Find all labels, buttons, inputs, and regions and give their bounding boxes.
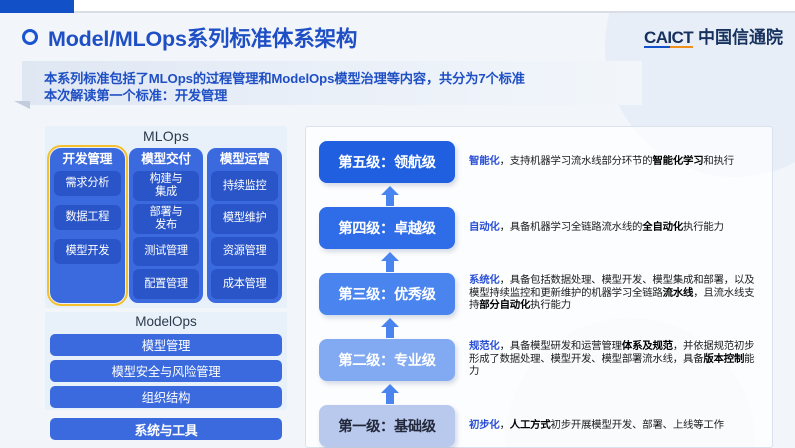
mlops-column-items: 构建与集成部署与发布测试管理配置管理 <box>133 171 200 299</box>
mlops-columns: 开发管理需求分析数据工程模型开发模型交付构建与集成部署与发布测试管理配置管理模型… <box>50 148 282 303</box>
mlops-group: MLOps 开发管理需求分析数据工程模型开发模型交付构建与集成部署与发布测试管理… <box>45 126 287 308</box>
maturity-level-keyword: 智能化 <box>469 156 500 167</box>
mlops-item[interactable]: 需求分析 <box>54 171 121 196</box>
maturity-level-description: 系统化，具备包括数据处理、模型开发、模型集成和部署，以及模型持续监控和更新维护的… <box>469 275 764 313</box>
mlops-item[interactable]: 模型维护 <box>211 204 278 234</box>
mlops-item[interactable]: 构建与集成 <box>133 171 200 201</box>
mlops-item[interactable]: 配置管理 <box>133 269 200 299</box>
maturity-level-box[interactable]: 第二级：专业级 <box>319 339 455 381</box>
mlops-architecture-panel: MLOps 开发管理需求分析数据工程模型开发模型交付构建与集成部署与发布测试管理… <box>45 126 287 448</box>
maturity-level-row-1: 第一级：基础级初步化，人工方式初步开展模型开发、部署、上线等工作 <box>306 405 774 447</box>
mlops-caption: MLOps <box>45 128 287 144</box>
logo-mark-text: CAICT <box>644 28 693 47</box>
mlops-item[interactable]: 持续监控 <box>211 171 278 201</box>
maturity-level-row-2: 第二级：专业级规范化，具备模型研发和运营管理体系及规范，并依据规范初步形成了数据… <box>306 339 774 381</box>
mlops-column-header: 模型运营 <box>211 151 278 168</box>
modelops-bar[interactable]: 模型安全与风险管理 <box>50 360 282 382</box>
mlops-item[interactable]: 部署与发布 <box>133 204 200 234</box>
maturity-level-description: 智能化，支持机器学习流水线部分环节的智能化学习和执行 <box>469 156 764 169</box>
mlops-column-items: 持续监控模型维护资源管理成本管理 <box>211 171 278 299</box>
modelops-group: ModelOps 模型管理模型安全与风险管理组织结构 <box>45 312 287 410</box>
mlops-item[interactable]: 资源管理 <box>211 237 278 267</box>
maturity-level-list: 第五级：领航级智能化，支持机器学习流水线部分环节的智能化学习和执行第四级：卓越级… <box>306 127 774 448</box>
mlops-item[interactable]: 成本管理 <box>211 269 278 299</box>
logo-underline-orange <box>670 46 693 49</box>
logo-mark-label: CAICT <box>644 28 693 47</box>
arrow-up-icon <box>379 317 401 339</box>
arrow-up-icon <box>379 251 401 273</box>
mlops-item[interactable]: 数据工程 <box>54 205 121 230</box>
mlops-column-1[interactable]: 开发管理需求分析数据工程模型开发 <box>50 148 125 303</box>
arrow-up-icon <box>379 383 401 405</box>
subtitle-line-2: 本次解读第一个标准：开发管理 <box>44 85 227 104</box>
maturity-level-description: 规范化，具备模型研发和运营管理体系及规范，并依据规范初步形成了数据处理、模型开发… <box>469 341 764 379</box>
maturity-level-keyword: 初步化 <box>469 420 500 431</box>
slide-header: Model/MLOps系列标准体系架构 CAICT 中国信通院 <box>0 13 795 61</box>
ring-bullet-icon <box>22 29 38 45</box>
maturity-level-keyword: 自动化 <box>469 222 500 233</box>
maturity-level-row-5: 第五级：领航级智能化，支持机器学习流水线部分环节的智能化学习和执行 <box>306 141 774 183</box>
maturity-level-description: 自动化，具备机器学习全链路流水线的全自动化执行能力 <box>469 222 764 235</box>
modelops-caption: ModelOps <box>45 314 287 329</box>
mlops-item[interactable]: 测试管理 <box>133 237 200 267</box>
top-accent-bar <box>0 0 74 13</box>
arrow-up-icon <box>379 185 401 207</box>
maturity-level-row-3: 第三级：优秀级系统化，具备包括数据处理、模型开发、模型集成和部署，以及模型持续监… <box>306 273 774 315</box>
maturity-levels-panel: 第五级：领航级智能化，支持机器学习流水线部分环节的智能化学习和执行第四级：卓越级… <box>305 126 773 448</box>
page-title: Model/MLOps系列标准体系架构 <box>48 22 357 53</box>
mlops-column-header: 模型交付 <box>133 151 200 168</box>
maturity-level-box[interactable]: 第三级：优秀级 <box>319 273 455 315</box>
banner-tail-shape <box>14 101 30 109</box>
system-tools-bar[interactable]: 系统与工具 <box>50 418 282 440</box>
mlops-item[interactable]: 模型开发 <box>54 239 121 264</box>
logo-underline <box>644 46 693 49</box>
mlops-column-header: 开发管理 <box>54 151 121 168</box>
maturity-level-box[interactable]: 第五级：领航级 <box>319 141 455 183</box>
modelops-bar[interactable]: 组织结构 <box>50 386 282 408</box>
mlops-column-3[interactable]: 模型运营持续监控模型维护资源管理成本管理 <box>207 148 282 303</box>
maturity-level-keyword: 规范化 <box>469 341 500 352</box>
maturity-level-box[interactable]: 第一级：基础级 <box>319 405 455 447</box>
modelops-bar[interactable]: 模型管理 <box>50 334 282 356</box>
subtitle-banner: 本系列标准包括了MLOps的过程管理和ModelOps模型治理等内容，共分为7个… <box>22 61 642 105</box>
logo-chinese-name: 中国信通院 <box>698 28 783 47</box>
caict-logo: CAICT 中国信通院 <box>644 28 783 47</box>
slide-canvas: Model/MLOps系列标准体系架构 CAICT 中国信通院 本系列标准包括了… <box>0 13 795 448</box>
mlops-column-2[interactable]: 模型交付构建与集成部署与发布测试管理配置管理 <box>129 148 204 303</box>
modelops-bars: 模型管理模型安全与风险管理组织结构 <box>50 334 282 408</box>
maturity-level-row-4: 第四级：卓越级自动化，具备机器学习全链路流水线的全自动化执行能力 <box>306 207 774 249</box>
maturity-level-description: 初步化，人工方式初步开展模型开发、部署、上线等工作 <box>469 420 764 433</box>
mlops-column-items: 需求分析数据工程模型开发 <box>54 171 121 299</box>
maturity-level-box[interactable]: 第四级：卓越级 <box>319 207 455 249</box>
logo-underline-blue <box>644 46 669 49</box>
maturity-level-keyword: 系统化 <box>469 275 500 286</box>
